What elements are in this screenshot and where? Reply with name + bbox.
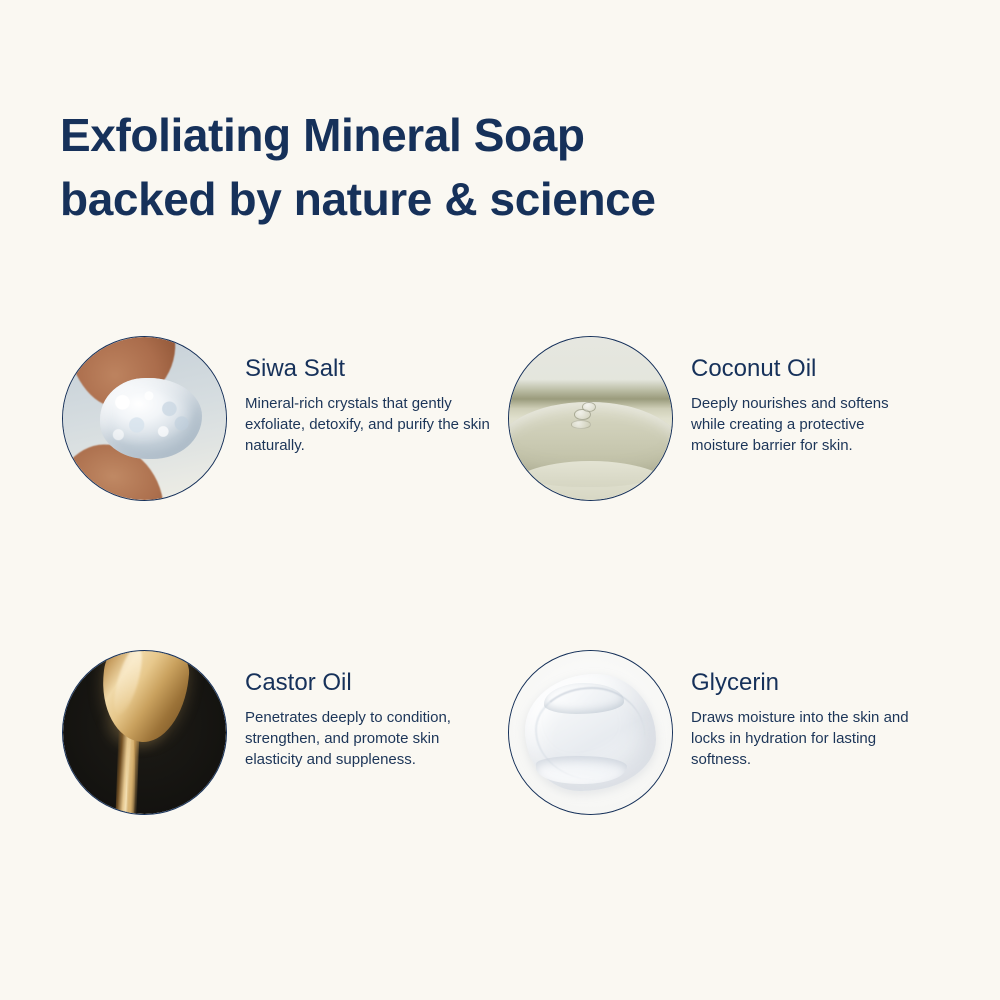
castor-oil-image xyxy=(62,650,227,815)
coconut-oil-image xyxy=(508,336,673,501)
ingredient-title: Siwa Salt xyxy=(245,354,490,384)
ingredient-text-siwa-salt: Siwa Salt Mineral-rich crystals that gen… xyxy=(227,336,490,456)
salt-crystal-image-inner xyxy=(63,337,226,500)
ingredient-description: Deeply nourishes and softens while creat… xyxy=(691,393,921,456)
ingredient-benefits-infographic: Exfoliating Mineral Soap backed by natur… xyxy=(0,0,1000,1000)
page-title-line-2: backed by nature & science xyxy=(60,167,920,231)
glycerin-image xyxy=(508,650,673,815)
castor-oil-image-inner xyxy=(63,651,226,814)
ingredient-description: Penetrates deeply to condition, strength… xyxy=(245,707,480,770)
page-title: Exfoliating Mineral Soap backed by natur… xyxy=(60,103,920,231)
salt-crystal-shape xyxy=(100,378,201,460)
ingredient-text-glycerin: Glycerin Draws moisture into the skin an… xyxy=(673,650,926,770)
ingredient-title: Castor Oil xyxy=(245,668,480,698)
ingredient-text-castor-oil: Castor Oil Penetrates deeply to conditio… xyxy=(227,650,480,770)
ingredient-text-coconut-oil: Coconut Oil Deeply nourishes and softens… xyxy=(673,336,921,456)
castor-oil-stream-highlight xyxy=(127,733,135,815)
page-title-line-1: Exfoliating Mineral Soap xyxy=(60,103,920,167)
ingredient-card-glycerin: Glycerin Draws moisture into the skin an… xyxy=(508,650,926,815)
ingredient-card-siwa-salt: Siwa Salt Mineral-rich crystals that gen… xyxy=(62,336,490,501)
ingredient-card-coconut-oil: Coconut Oil Deeply nourishes and softens… xyxy=(508,336,921,501)
salt-crystal-image xyxy=(62,336,227,501)
glycerin-image-inner xyxy=(509,651,672,814)
ingredient-description: Mineral-rich crystals that gently exfoli… xyxy=(245,393,490,456)
ingredient-description: Draws moisture into the skin and locks i… xyxy=(691,707,926,770)
coconut-oil-image-inner xyxy=(509,337,672,500)
oil-bubble-ring xyxy=(571,420,591,429)
ingredient-title: Glycerin xyxy=(691,668,926,698)
ingredient-title: Coconut Oil xyxy=(691,354,921,384)
ingredient-card-castor-oil: Castor Oil Penetrates deeply to conditio… xyxy=(62,650,480,815)
